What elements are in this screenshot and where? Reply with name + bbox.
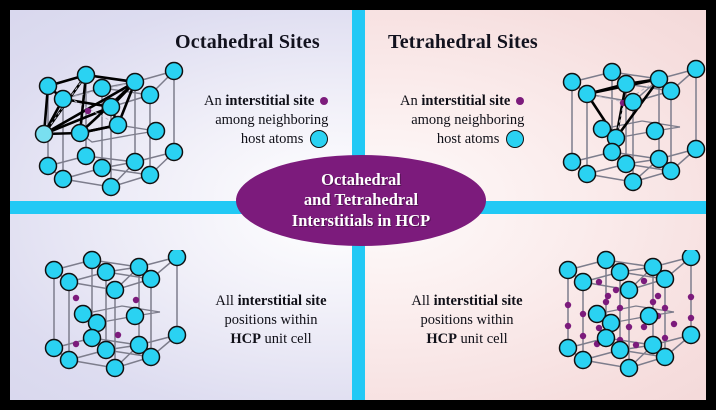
caption-tl-line3: host atoms: [241, 131, 303, 147]
figure-frame: Octahedral Sites Tetrahedral Sites An in…: [0, 0, 716, 410]
figure-canvas: Octahedral Sites Tetrahedral Sites An in…: [10, 10, 706, 400]
center-title-line3: Interstitials in HCP: [292, 211, 430, 231]
caption-tl-prefix: An: [204, 93, 225, 109]
center-title-line1: Octahedral: [292, 170, 430, 190]
host-atom-legend-ball-icon: [506, 130, 524, 148]
page-title-octahedral: Octahedral Sites: [175, 31, 320, 54]
caption-br-line3-bold: HCP: [426, 331, 457, 347]
interstitial-site-legend-dot-icon: [320, 97, 328, 105]
caption-br-line3-plain: unit cell: [457, 331, 508, 347]
interstitial-site-dot: [85, 108, 91, 114]
host-atom-legend-ball-icon: [310, 130, 328, 148]
hcp-all-octahedral-sites-diagram: [38, 250, 188, 383]
caption-bl-prefix: All: [215, 293, 237, 309]
hcp-all-tetrahedral-sites-diagram: [548, 250, 706, 383]
center-title-line2: and Tetrahedral: [292, 190, 430, 210]
caption-bottom-left: All interstitial site positions within H…: [196, 292, 346, 349]
hcp-tetrahedral-site-diagram: [556, 58, 706, 209]
caption-top-right: An interstitial site among neighboring h…: [400, 92, 524, 149]
page-title-tetrahedral: Tetrahedral Sites: [388, 31, 538, 54]
caption-bl-line2: positions within: [196, 311, 346, 330]
hcp-octahedral-site-diagram: [28, 58, 194, 209]
caption-tl-bold: interstitial site: [225, 93, 314, 109]
caption-bl-bold: interstitial site: [238, 293, 327, 309]
center-title-ellipse: Octahedral and Tetrahedral Interstitials…: [236, 155, 486, 246]
caption-tr-bold: interstitial site: [421, 93, 510, 109]
caption-top-left: An interstitial site among neighboring h…: [204, 92, 328, 149]
caption-bl-line3-bold: HCP: [230, 331, 261, 347]
caption-tl-line2: among neighboring: [204, 111, 328, 130]
caption-br-line2: positions within: [392, 311, 542, 330]
caption-bl-line3-plain: unit cell: [261, 331, 312, 347]
interstitial-site-legend-dot-icon: [516, 97, 524, 105]
caption-br-prefix: All: [411, 293, 433, 309]
caption-bottom-right: All interstitial site positions within H…: [392, 292, 542, 349]
caption-tr-prefix: An: [400, 93, 421, 109]
caption-tr-line2: among neighboring: [400, 111, 524, 130]
caption-tr-line3: host atoms: [437, 131, 499, 147]
caption-br-bold: interstitial site: [434, 293, 523, 309]
